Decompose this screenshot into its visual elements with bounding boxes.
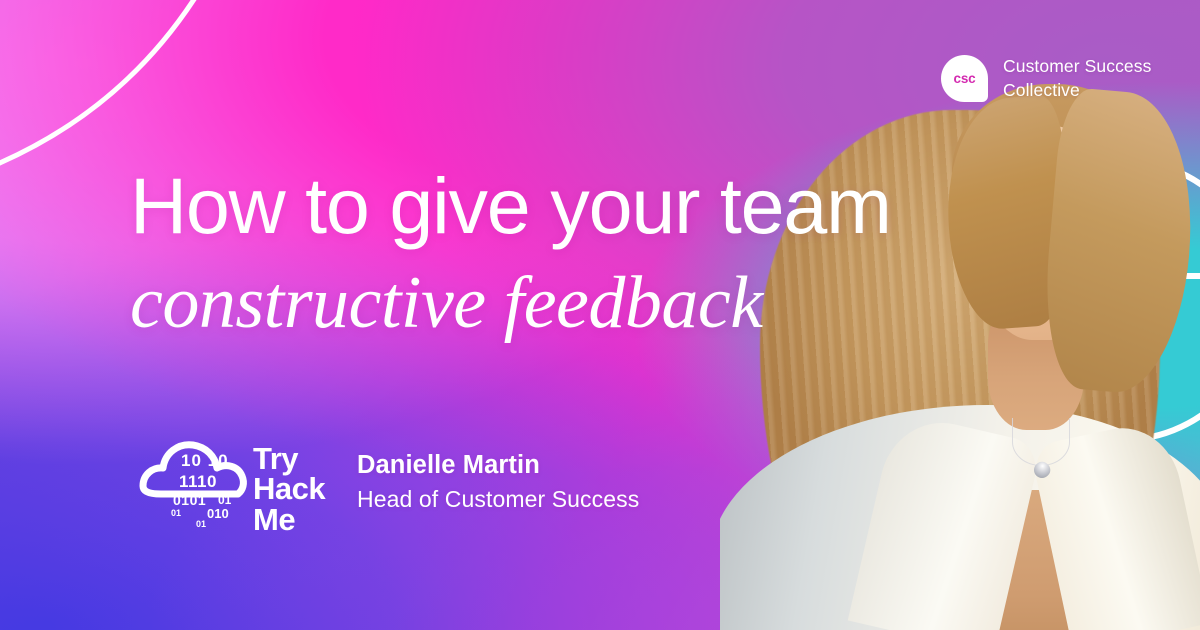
csc-logo-text: csc <box>954 71 976 86</box>
csc-brand-name-line2: Collective <box>1003 79 1151 102</box>
binary-row-7: 01 <box>196 520 206 529</box>
csc-speech-bubble-logo: csc <box>941 55 988 102</box>
speaker-name: Danielle Martin <box>357 448 639 482</box>
binary-row-3: 0101 <box>173 493 206 507</box>
promo-card: csc Customer Success Collective How to g… <box>0 0 1200 630</box>
speaker-info: Danielle Martin Head of Customer Success <box>357 428 639 515</box>
portrait-hair-front-right <box>1037 86 1200 397</box>
binary-row-1: 10 10 <box>181 452 229 469</box>
csc-brand-lockup[interactable]: csc Customer Success Collective <box>941 55 1151 102</box>
headline-line1: How to give your team <box>130 166 960 245</box>
portrait-necklace <box>1012 418 1070 466</box>
speaker-portrait <box>720 70 1200 630</box>
tryhackme-word-me: Me <box>253 505 325 535</box>
headline-line2: constructive feedback <box>130 266 960 340</box>
csc-brand-name-line1: Customer Success <box>1003 55 1151 78</box>
speaker-role: Head of Customer Success <box>357 484 639 515</box>
binary-row-4: 01 <box>218 494 231 506</box>
csc-brand-name: Customer Success Collective <box>1003 55 1151 102</box>
binary-row-5: 01 <box>171 509 181 518</box>
footer: 10 10 1110 0101 01 01 010 01 Try Hack Me… <box>131 428 639 538</box>
tryhackme-wordmark: Try Hack Me <box>253 444 325 535</box>
binary-row-2: 1110 <box>179 473 217 490</box>
tryhackme-word-try: Try <box>253 444 325 474</box>
headline: How to give your team constructive feedb… <box>130 166 960 340</box>
tryhackme-word-hack: Hack <box>253 474 325 504</box>
binary-row-6: 010 <box>207 507 229 520</box>
tryhackme-cloud-logo[interactable]: 10 10 1110 0101 01 01 010 01 Try Hack Me <box>131 428 317 538</box>
